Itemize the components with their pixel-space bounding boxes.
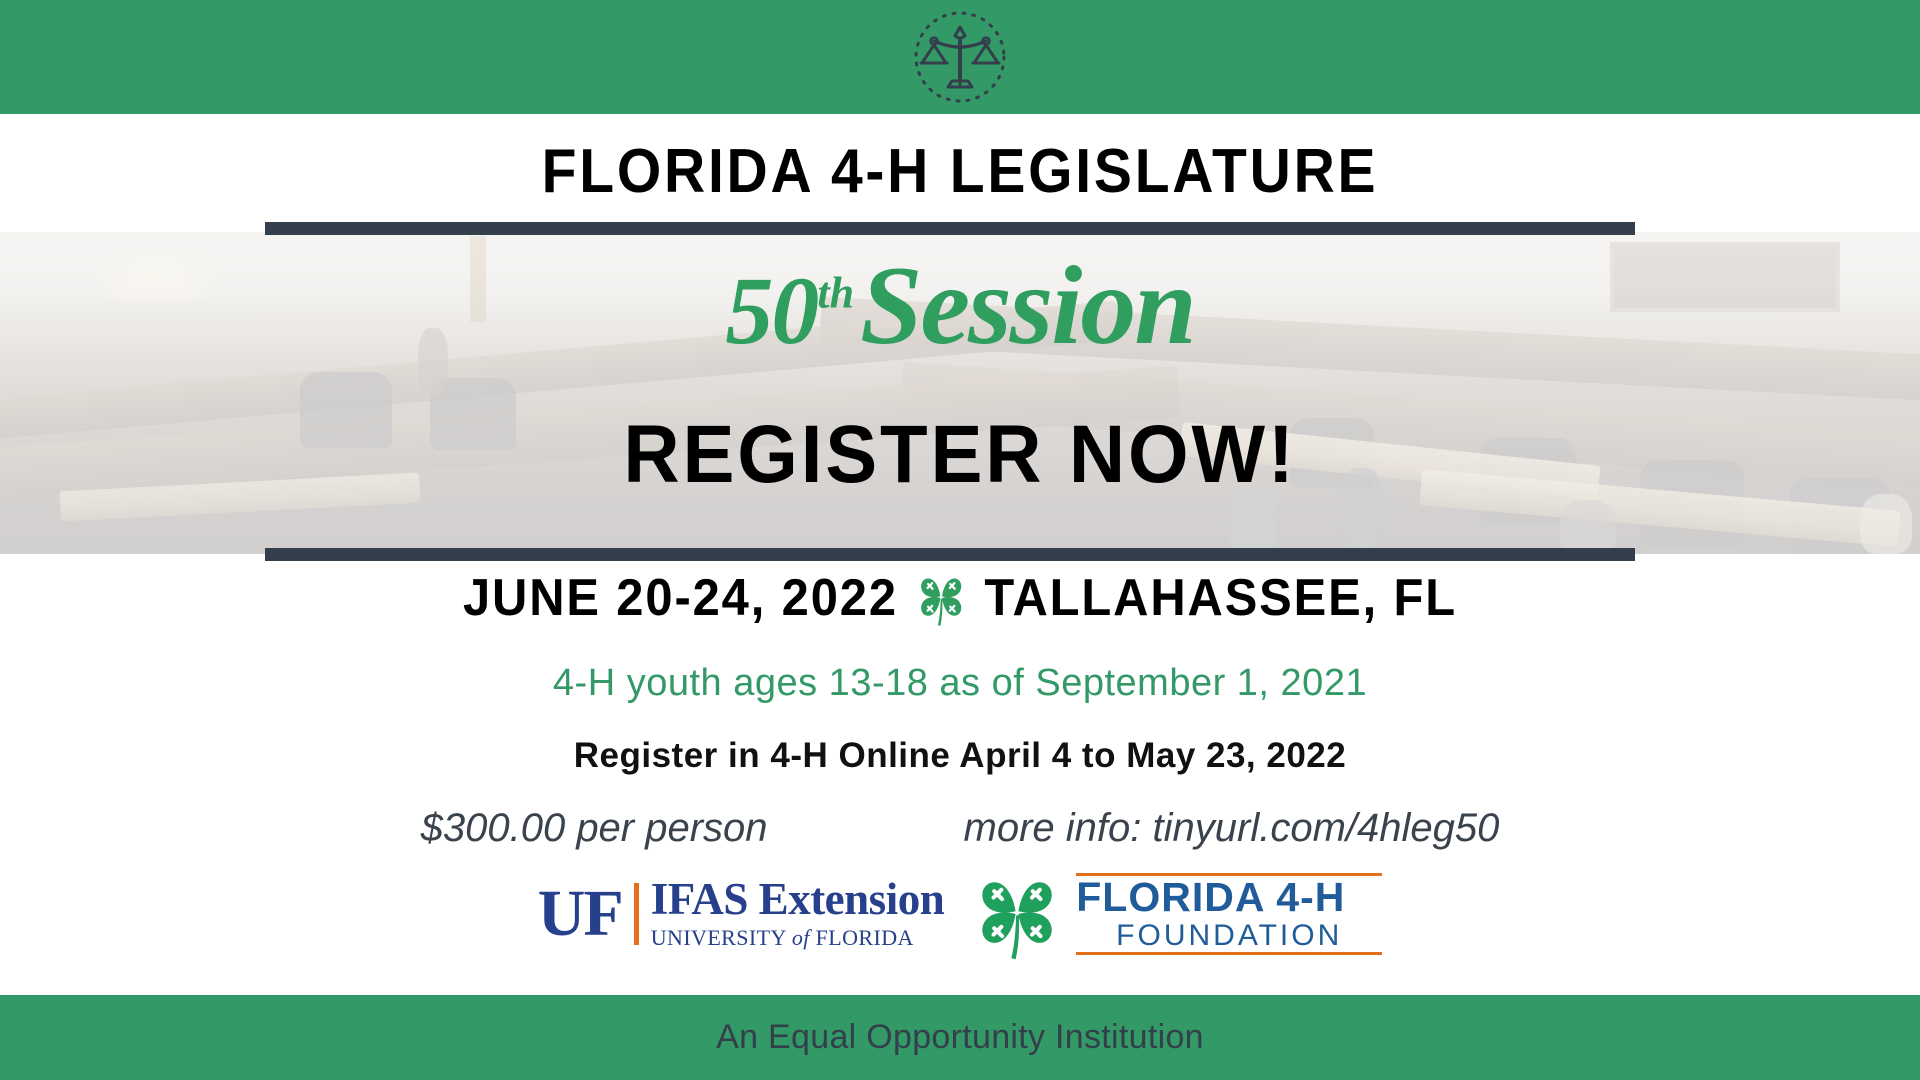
uf-university-of: of <box>792 925 810 950</box>
logo-row: UF IFAS Extension UNIVERSITY of FLORIDA <box>0 868 1920 960</box>
session-ordinal: th <box>817 268 854 317</box>
flyer-canvas: FLORIDA 4-H LEGISLATURE <box>0 0 1920 1080</box>
session-number: 50 <box>725 257 817 364</box>
date-location-line: JUNE 20-24, 2022 TALLAHASSEE, FL <box>58 568 1863 628</box>
uf-monogram: UF <box>538 886 622 942</box>
scales-of-justice-icon <box>908 5 1012 109</box>
session-headline: 50thSession <box>0 250 1920 362</box>
uf-ifas-extension-logo: UF IFAS Extension UNIVERSITY of FLORIDA <box>538 872 944 956</box>
cta-headline: REGISTER NOW! <box>48 408 1872 502</box>
foundation-wordmark: FLORIDA 4-H FOUNDATION <box>1076 873 1382 955</box>
uf-university-post: FLORIDA <box>810 925 914 950</box>
uf-university-pre: UNIVERSITY <box>651 925 792 950</box>
foundation-line-2: FOUNDATION <box>1076 919 1382 952</box>
four-h-clover-icon <box>915 569 968 627</box>
uf-divider-rule <box>634 883 639 945</box>
event-location: TALLAHASSEE, FL <box>984 568 1457 628</box>
uf-university-text: UNIVERSITY of FLORIDA <box>651 925 944 951</box>
session-word: Session <box>860 244 1195 368</box>
top-banner <box>0 0 1920 114</box>
accent-bar-top <box>265 222 1635 235</box>
foundation-line-1: FLORIDA 4-H <box>1076 876 1382 919</box>
uf-wordmark: IFAS Extension UNIVERSITY of FLORIDA <box>651 877 944 951</box>
uf-ifas-extension-text: IFAS Extension <box>651 877 944 923</box>
foundation-rule-bottom <box>1076 952 1382 955</box>
page-title: FLORIDA 4-H LEGISLATURE <box>77 136 1843 207</box>
footer-band: An Equal Opportunity Institution <box>0 995 1920 1080</box>
cost-info-row: $300.00 per person more info: tinyurl.co… <box>0 806 1920 851</box>
florida-4h-foundation-logo: FLORIDA 4-H FOUNDATION <box>970 868 1382 960</box>
eligibility-note: 4-H youth ages 13-18 as of September 1, … <box>0 662 1920 705</box>
more-info-link[interactable]: more info: tinyurl.com/4hleg50 <box>964 806 1500 851</box>
event-date: JUNE 20-24, 2022 <box>463 568 898 628</box>
footer-text: An Equal Opportunity Institution <box>716 1018 1204 1057</box>
price-text: $300.00 per person <box>421 806 768 851</box>
accent-bar-bottom <box>265 548 1635 561</box>
registration-window: Register in 4-H Online April 4 to May 23… <box>0 736 1920 776</box>
four-h-clover-icon <box>970 867 1064 961</box>
